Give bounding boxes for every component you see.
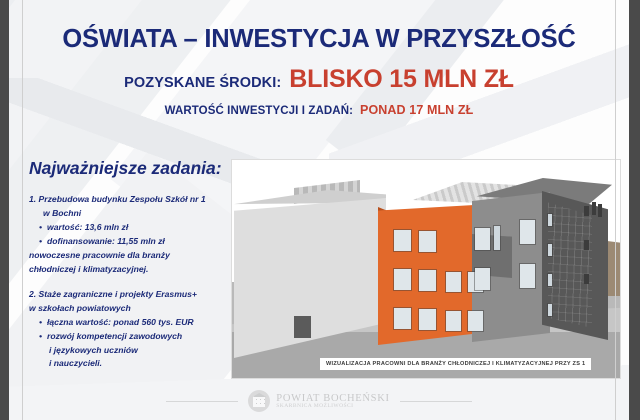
task-line: 1. Przebudowa budynku Zespołu Szkół nr 1 — [29, 193, 237, 207]
render-window — [446, 311, 461, 331]
render-window — [494, 226, 500, 250]
infographic-slide: OŚWIATA – INWESTYCJA W PRZYSZŁOŚĆ POZYSK… — [0, 0, 640, 420]
render-window — [520, 220, 535, 244]
investment-value-amount: PONAD 17 MLN ZŁ — [360, 103, 473, 117]
render-window — [446, 272, 461, 292]
render-window — [548, 304, 552, 316]
render-window — [419, 309, 436, 330]
right-gutter — [629, 0, 640, 420]
task-bullet-line: dofinansowanie: 11,55 mln zł — [29, 235, 237, 249]
task-line: i nauczycieli. — [29, 357, 237, 371]
render-window — [592, 202, 596, 215]
task-block: 1. Przebudowa budynku Zespołu Szkół nr 1… — [29, 193, 237, 277]
render-window — [394, 308, 411, 329]
right-rail — [615, 0, 616, 420]
task-line: i językowych uczniów — [29, 344, 237, 358]
task-block: 2. Staże zagraniczne i projekty Erasmus+… — [29, 288, 237, 372]
funds-value: BLISKO 15 MLN ZŁ — [289, 65, 514, 94]
left-gutter — [0, 0, 9, 420]
render-window — [548, 274, 552, 286]
visualization-image: WIZUALIZACJA PRACOWNI DLA BRANŻY CHŁODNI… — [232, 160, 620, 378]
logo-name: POWIAT BOCHEŃSKI — [276, 393, 389, 404]
investment-value-row: WARTOŚĆ INWESTYCJI I ZADAŃ: PONAD 17 MLN… — [9, 103, 629, 117]
render-window — [394, 269, 411, 290]
building-crest-icon — [248, 390, 270, 412]
render-window — [475, 268, 490, 290]
task-line: nowoczesne pracownie dla branży — [29, 249, 237, 263]
render-window — [548, 214, 552, 226]
render-window — [584, 274, 589, 284]
page-title: OŚWIATA – INWESTYCJA W PRZYSZŁOŚĆ — [9, 26, 629, 54]
render-left-door — [294, 316, 311, 338]
task-bullet-line: łączna wartość: ponad 560 tys. EUR — [29, 316, 237, 330]
footer-rule-right — [400, 401, 472, 402]
footer-rule-left — [166, 401, 238, 402]
render-window — [548, 244, 552, 256]
render-window — [419, 270, 436, 291]
header-block: OŚWIATA – INWESTYCJA W PRZYSZŁOŚĆ POZYSK… — [9, 0, 629, 117]
task-line: w Bochni — [29, 207, 237, 221]
task-line: chłodniczej i klimatyzacyjnej. — [29, 263, 237, 277]
render-window — [394, 230, 411, 251]
tasks-column: Najważniejsze zadania: 1. Przebudowa bud… — [29, 158, 237, 371]
logo-text: POWIAT BOCHEŃSKI SKARBNICA MOŻLIWOŚCI — [276, 393, 389, 410]
funds-row: POZYSKANE ŚRODKI: BLISKO 15 MLN ZŁ — [9, 65, 629, 94]
county-logo: POWIAT BOCHEŃSKI SKARBNICA MOŻLIWOŚCI — [248, 390, 389, 412]
task-bullet-line: wartość: 13,6 mln zł — [29, 221, 237, 235]
task-line: 2. Staże zagraniczne i projekty Erasmus+ — [29, 288, 237, 302]
footer-watermark: POWIAT BOCHEŃSKI SKARBNICA MOŻLIWOŚCI — [9, 388, 629, 414]
task-line: w szkołach powiatowych — [29, 302, 237, 316]
render-window — [475, 228, 490, 250]
funds-label: POZYSKANE ŚRODKI: — [124, 75, 281, 91]
image-caption: WIZUALIZACJA PRACOWNI DLA BRANŻY CHŁODNI… — [320, 358, 591, 370]
render-window — [584, 206, 589, 216]
logo-tagline: SKARBNICA MOŻLIWOŚCI — [276, 404, 389, 410]
left-rail — [22, 0, 23, 420]
tasks-list: 1. Przebudowa budynku Zespołu Szkół nr 1… — [29, 193, 237, 371]
render-window — [584, 240, 589, 250]
render-window — [419, 231, 436, 252]
tasks-heading: Najważniejsze zadania: — [29, 158, 237, 179]
render-tower-mesh — [548, 200, 592, 328]
investment-value-label: WARTOŚĆ INWESTYCJI I ZADAŃ: — [165, 105, 353, 117]
render-window — [598, 204, 602, 217]
slide-canvas: OŚWIATA – INWESTYCJA W PRZYSZŁOŚĆ POZYSK… — [9, 0, 629, 420]
task-bullet-line: rozwój kompetencji zawodowych — [29, 330, 237, 344]
render-window — [520, 264, 535, 288]
render-window — [468, 311, 483, 331]
